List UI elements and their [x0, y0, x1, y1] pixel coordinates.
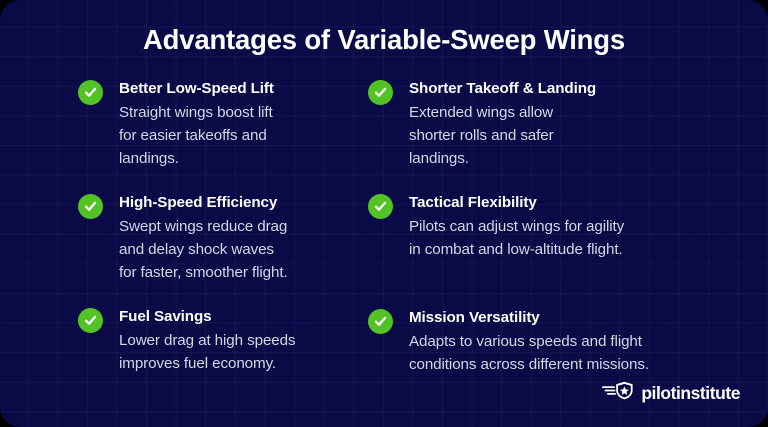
- list-item-description-line: Swept wings reduce drag: [119, 215, 338, 238]
- check-circle-icon: [78, 194, 103, 219]
- list-item: High-Speed Efficiency Swept wings reduce…: [78, 192, 338, 284]
- list-item: Shorter Takeoff & Landing Extended wings…: [368, 78, 698, 170]
- list-item: Fuel Savings Lower drag at high speeds i…: [78, 306, 338, 375]
- winged-shield-star-icon: [602, 381, 636, 405]
- list-item-description-line: Extended wings allow: [409, 101, 698, 124]
- list-item-description-line: in combat and low-altitude flight.: [409, 238, 698, 261]
- list-item-title: Better Low-Speed Lift: [119, 78, 338, 100]
- check-circle-icon: [368, 194, 393, 219]
- check-circle-icon: [78, 80, 103, 105]
- list-item-description: Extended wings allow shorter rolls and s…: [409, 101, 698, 170]
- list-item: Mission Versatility Adapts to various sp…: [368, 307, 698, 376]
- check-circle-icon: [78, 308, 103, 333]
- brand-name: pilotinstitute: [641, 383, 740, 403]
- list-item-description-line: landings.: [409, 147, 698, 170]
- list-item-description-line: improves fuel economy.: [119, 352, 338, 375]
- infographic-card: Advantages of Variable-Sweep Wings Bette…: [0, 0, 768, 427]
- list-item-description-line: Lower drag at high speeds: [119, 329, 338, 352]
- list-item-description-line: for faster, smoother flight.: [119, 261, 338, 284]
- advantages-column-left: Better Low-Speed Lift Straight wings boo…: [78, 78, 338, 375]
- list-item-description-line: Adapts to various speeds and flight: [409, 330, 698, 353]
- brand-logo: pilotinstitute: [602, 381, 740, 405]
- list-item: Tactical Flexibility Pilots can adjust w…: [368, 192, 698, 261]
- list-item-description-line: Pilots can adjust wings for agility: [409, 215, 698, 238]
- list-item-title: Mission Versatility: [409, 307, 698, 329]
- advantages-column-right: Shorter Takeoff & Landing Extended wings…: [368, 78, 698, 376]
- list-item-description-line: landings.: [119, 147, 338, 170]
- list-item-title: Tactical Flexibility: [409, 192, 698, 214]
- list-item-title: Shorter Takeoff & Landing: [409, 78, 698, 100]
- list-item-description: Lower drag at high speeds improves fuel …: [119, 329, 338, 375]
- list-item-title: High-Speed Efficiency: [119, 192, 338, 214]
- page-title: Advantages of Variable-Sweep Wings: [0, 23, 768, 57]
- list-item-description-line: and delay shock waves: [119, 238, 338, 261]
- list-item-description-line: conditions across different missions.: [409, 353, 698, 376]
- list-item-description-line: Straight wings boost lift: [119, 101, 338, 124]
- check-circle-icon: [368, 80, 393, 105]
- list-item-description: Adapts to various speeds and flight cond…: [409, 330, 698, 376]
- list-item-description-line: shorter rolls and safer: [409, 124, 698, 147]
- list-item-description: Swept wings reduce drag and delay shock …: [119, 215, 338, 284]
- list-item: Better Low-Speed Lift Straight wings boo…: [78, 78, 338, 170]
- list-item-description-line: for easier takeoffs and: [119, 124, 338, 147]
- list-item-description: Pilots can adjust wings for agility in c…: [409, 215, 698, 261]
- list-item-description: Straight wings boost lift for easier tak…: [119, 101, 338, 170]
- check-circle-icon: [368, 309, 393, 334]
- list-item-title: Fuel Savings: [119, 306, 338, 328]
